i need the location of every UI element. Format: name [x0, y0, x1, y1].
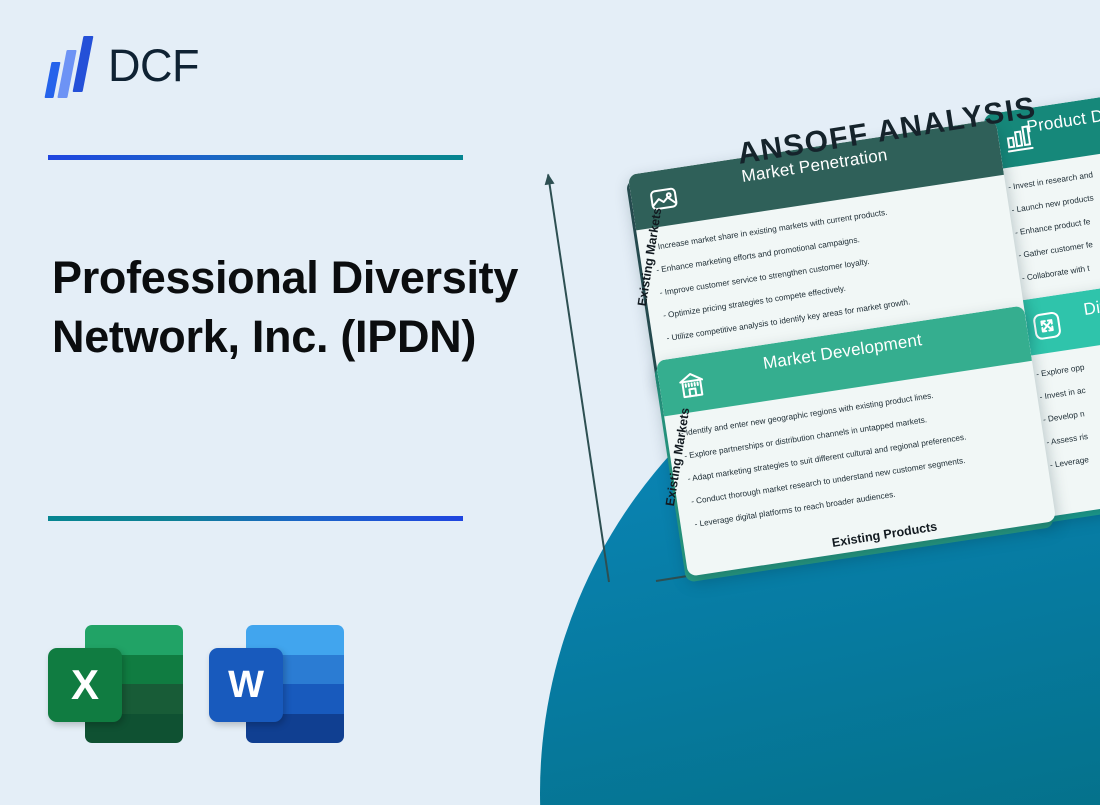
brand-logo[interactable]: DCF [48, 36, 199, 98]
file-format-icons: X W [48, 625, 344, 743]
left-panel: DCF Professional Diversity Network, Inc.… [0, 0, 540, 805]
excel-file-icon[interactable]: X [48, 625, 183, 743]
excel-badge-letter: X [48, 648, 122, 722]
dcf-logo-mark-icon [48, 36, 94, 98]
y-axis [547, 174, 610, 582]
divider-top [48, 155, 463, 160]
page-title: Professional Diversity Network, Inc. (IP… [52, 248, 522, 367]
slide-canvas: DCF Professional Diversity Network, Inc.… [0, 0, 1100, 805]
word-badge-letter: W [209, 648, 283, 722]
divider-bottom [48, 516, 463, 521]
word-file-icon[interactable]: W [209, 625, 344, 743]
ansoff-matrix: ANSOFF ANALYSIS Existing Markets Existin… [560, 60, 1100, 590]
brand-logo-text: DCF [108, 43, 199, 92]
